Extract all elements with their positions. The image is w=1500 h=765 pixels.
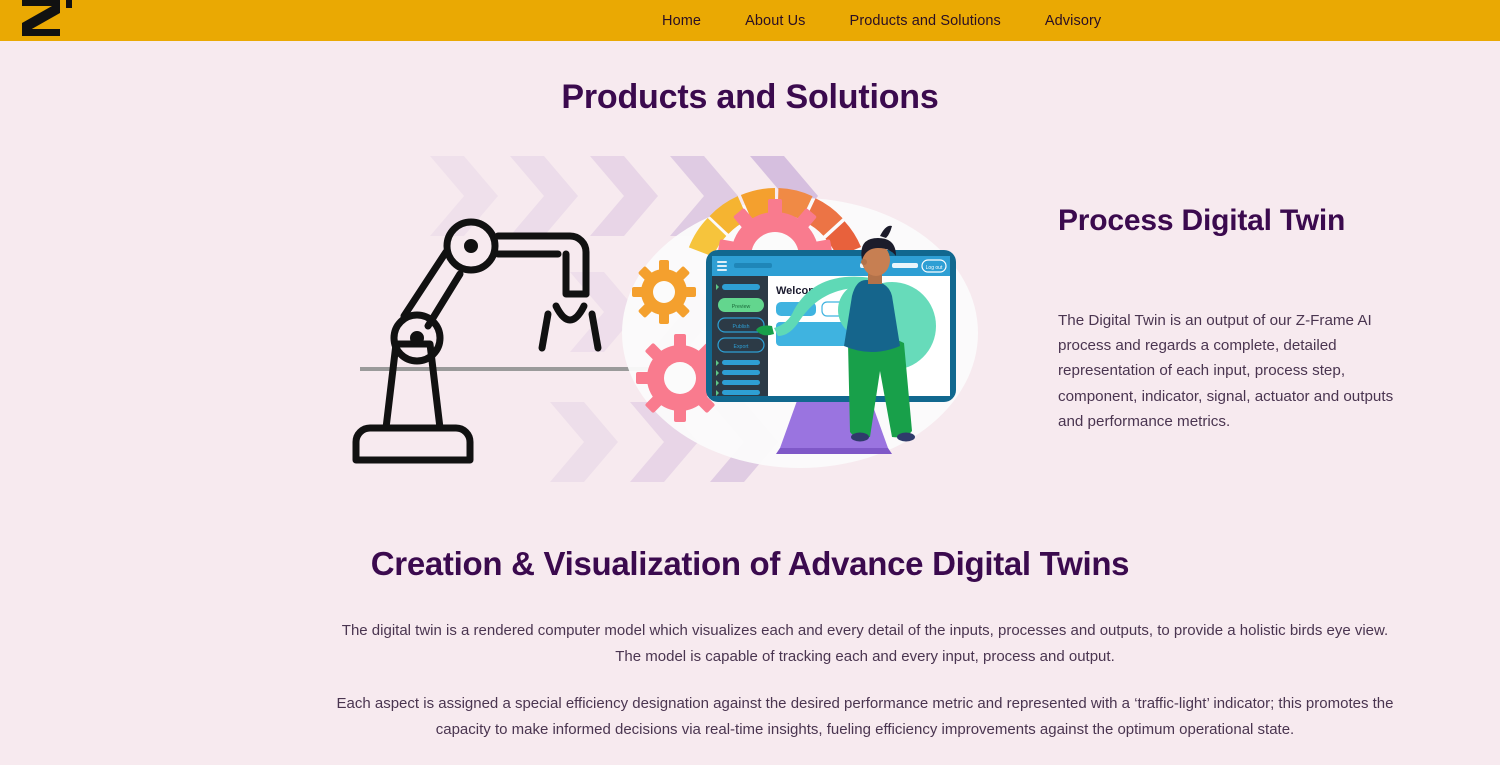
hamburger-menu-icon <box>717 261 727 271</box>
topbar-link-2 <box>892 263 918 268</box>
nav-item-about-us[interactable]: About Us <box>723 13 827 29</box>
nav-item-home[interactable]: Home <box>640 13 723 29</box>
app-title-placeholder <box>734 263 772 268</box>
page-title: Products and Solutions <box>0 78 1500 117</box>
main-navigation[interactable]: Home About Us Products and Solutions Adv… <box>640 0 1123 41</box>
dashboard-scene: Log out Preview Publish Export <box>622 198 978 468</box>
site-header: Home About Us Products and Solutions Adv… <box>0 0 1500 41</box>
feature-title: Process Digital Twin <box>1058 200 1408 243</box>
robot-arm-icon <box>356 222 598 460</box>
sidebar-button-publish-label: Publish <box>732 324 749 330</box>
hero-illustration: Log out Preview Publish Export <box>320 148 1040 493</box>
section-title: Creation & Visualization of Advance Digi… <box>0 545 1500 583</box>
logout-button-label: Log out <box>926 265 943 271</box>
illustration-artwork: Log out Preview Publish Export <box>320 148 1040 493</box>
sidebar-link-top <box>722 284 760 290</box>
page-root: Home About Us Products and Solutions Adv… <box>0 0 1500 765</box>
monitor-stand-base <box>776 448 892 454</box>
feature-body: The Digital Twin is an output of our Z-F… <box>1058 308 1406 434</box>
logo-z-icon[interactable] <box>18 0 76 38</box>
dashboard-sidebar <box>712 276 768 396</box>
sidebar-button-preview-label: Preview <box>732 304 751 310</box>
sidebar-button-export-label: Export <box>734 344 750 350</box>
nav-item-advisory[interactable]: Advisory <box>1023 13 1123 29</box>
section-paragraph-1: The digital twin is a rendered computer … <box>330 618 1400 669</box>
section-paragraph-2: Each aspect is assigned a special effici… <box>330 691 1400 742</box>
nav-item-products-and-solutions[interactable]: Products and Solutions <box>828 13 1023 29</box>
gear-orange-icon <box>632 260 696 324</box>
